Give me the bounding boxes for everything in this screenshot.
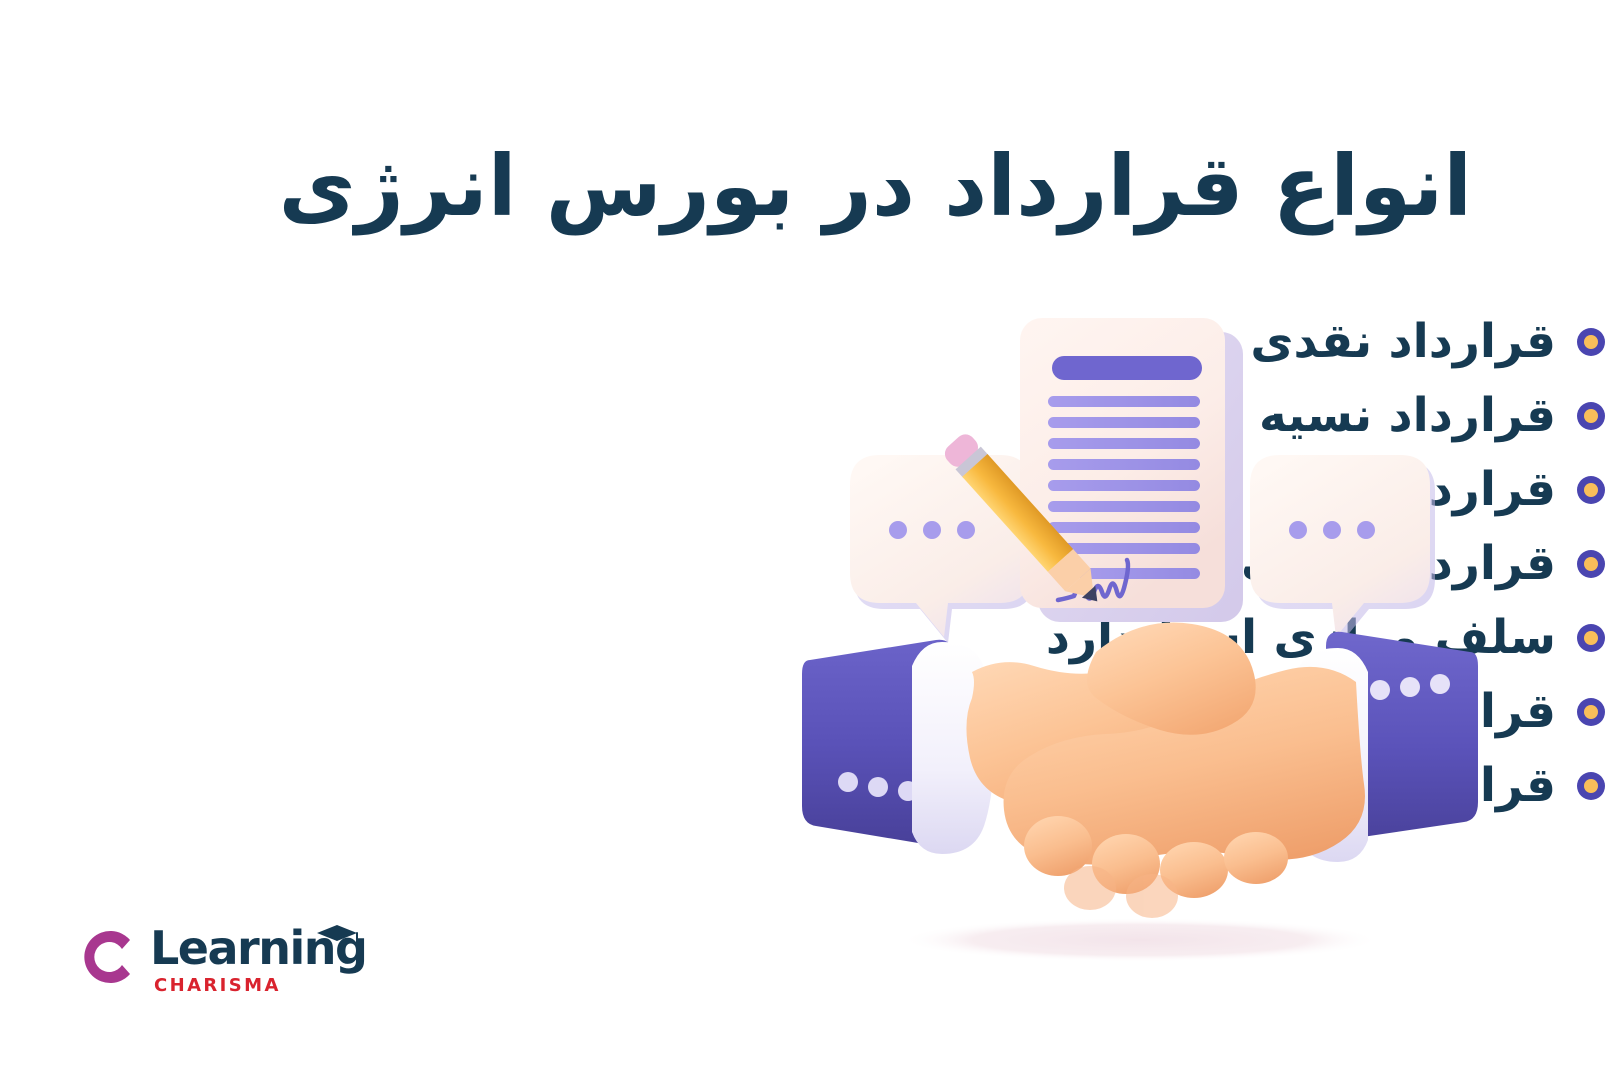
bullet-dot-icon bbox=[1577, 402, 1605, 430]
document-heading-bar bbox=[1052, 356, 1202, 380]
illustration-svg bbox=[790, 290, 1490, 990]
bullet-icon-wrap bbox=[1560, 698, 1622, 726]
speech-bubble-right-icon bbox=[1250, 455, 1435, 643]
bullet-icon-wrap bbox=[1560, 772, 1622, 800]
bullet-dot-icon bbox=[1577, 698, 1605, 726]
bullet-dot-icon bbox=[1577, 772, 1605, 800]
bullet-dot-icon bbox=[1577, 328, 1605, 356]
bullet-icon-wrap bbox=[1560, 402, 1622, 430]
logo-subtitle: CHARISMA bbox=[154, 977, 281, 995]
bullet-dot-icon bbox=[1577, 624, 1605, 652]
bullet-dot-icon bbox=[1577, 476, 1605, 504]
handshake-icon bbox=[802, 623, 1478, 918]
logo-c-mark-icon bbox=[78, 927, 138, 987]
bullet-icon-wrap bbox=[1560, 550, 1622, 578]
bullet-icon-wrap bbox=[1560, 328, 1622, 356]
handshake-contract-illustration bbox=[790, 290, 1490, 990]
bullet-icon-wrap bbox=[1560, 624, 1622, 652]
page-title: انواع قرارداد در بورس انرژی bbox=[482, 138, 1472, 235]
graduation-cap-icon bbox=[316, 923, 358, 951]
brand-logo[interactable]: Learning CHARISMA bbox=[78, 921, 378, 1013]
bullet-dot-icon bbox=[1577, 550, 1605, 578]
floor-shadow bbox=[900, 918, 1380, 962]
infographic-poster: انواع قرارداد در بورس انرژی قرارداد نقدی… bbox=[0, 0, 1622, 1081]
bullet-icon-wrap bbox=[1560, 476, 1622, 504]
